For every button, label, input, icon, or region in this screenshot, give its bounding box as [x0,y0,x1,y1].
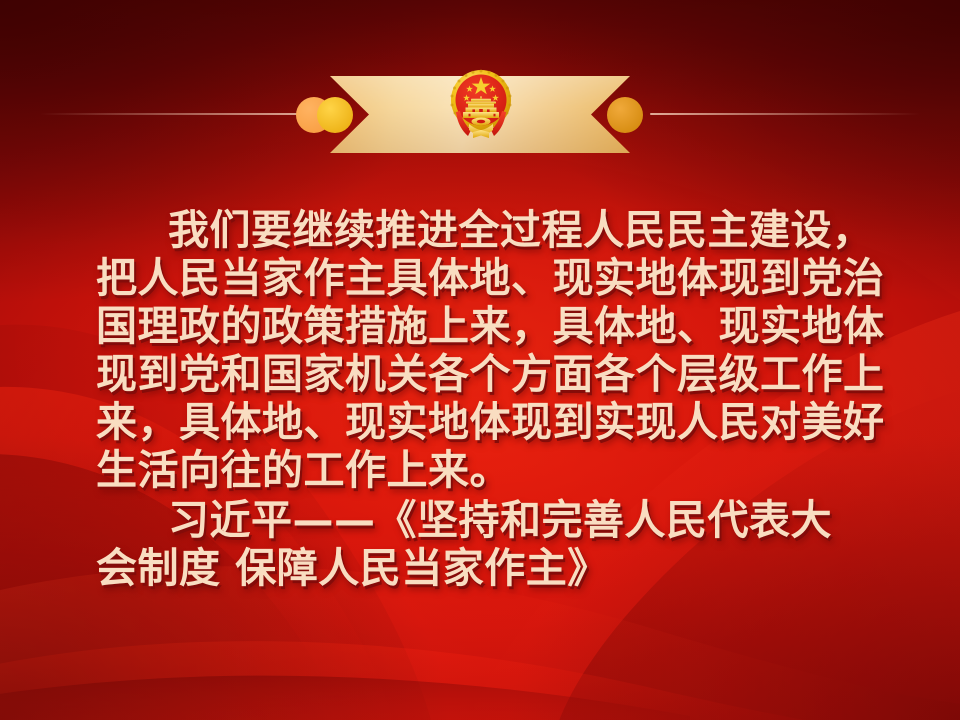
quote-line-1: 我们要继续推进全过程人民民主建设， [96,206,866,254]
right-hairline-icon [650,113,920,115]
quote-block: 我们要继续推进全过程人民民主建设， 把人民当家作主具体地、现实地体现到党治 国理… [96,206,866,592]
left-hairline-icon [40,113,310,115]
right-orange-circle-icon [628,97,664,133]
attribution-line-2: 会制度 保障人民当家作主》 [96,544,866,592]
national-emblem-icon [447,64,515,144]
quote-line-2: 把人民当家作主具体地、现实地体现到党治 [96,254,866,302]
quote-line-5: 来，具体地、现实地体现到实现人民对美好 [96,398,866,446]
attribution-line-1: 习近平——《坚持和完善人民代表大 [96,496,866,544]
quote-line-3: 国理政的政策措施上来，具体地、现实地体 [96,302,866,350]
poster-canvas: 我们要继续推进全过程人民民主建设， 把人民当家作主具体地、现实地体现到党治 国理… [0,0,960,720]
quote-line-6: 生活向往的工作上来。 [96,446,866,494]
left-gold-circle-icon [317,97,353,133]
quote-line-4: 现到党和国家机关各个方面各个层级工作上 [96,350,866,398]
header-band [0,0,960,190]
